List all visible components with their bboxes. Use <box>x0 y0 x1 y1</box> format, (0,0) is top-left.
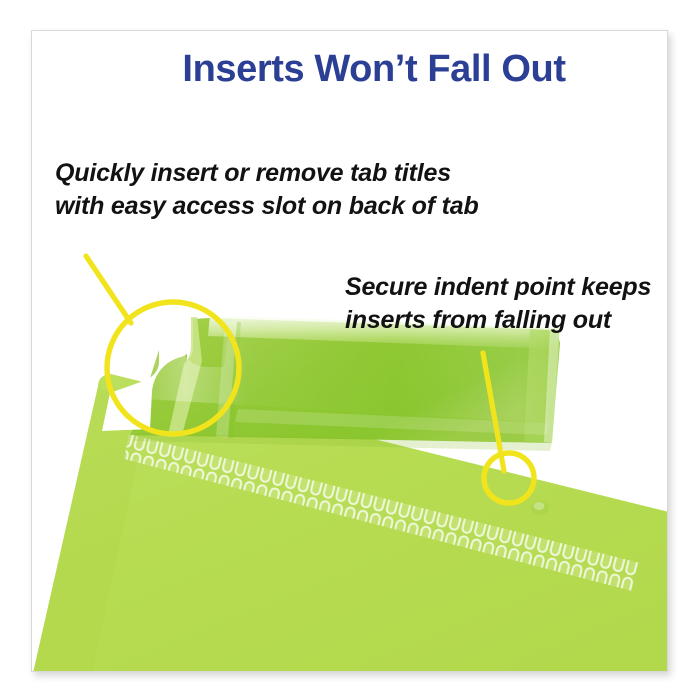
divider-tab-illustration <box>32 31 668 672</box>
callout-label-slot-access-line1: Quickly insert or remove tab titles <box>55 157 485 190</box>
callout-label-slot-access-line2: with easy access slot on back of tab <box>55 190 485 223</box>
callout-label-indent-point-line2: inserts from falling out <box>345 304 665 337</box>
product-feature-image: Inserts Won’t Fall Out Quickly insert or… <box>0 0 700 700</box>
callout-label-indent-point-line1: Secure indent point keeps <box>345 271 665 304</box>
callout-label-slot-access: Quickly insert or remove tab titles with… <box>55 157 485 223</box>
product-photograph <box>32 31 668 672</box>
page-title: Inserts Won’t Fall Out <box>144 50 604 90</box>
product-photo-panel: Inserts Won’t Fall Out Quickly insert or… <box>31 30 668 672</box>
callout-label-indent-point: Secure indent point keeps inserts from f… <box>345 271 665 337</box>
